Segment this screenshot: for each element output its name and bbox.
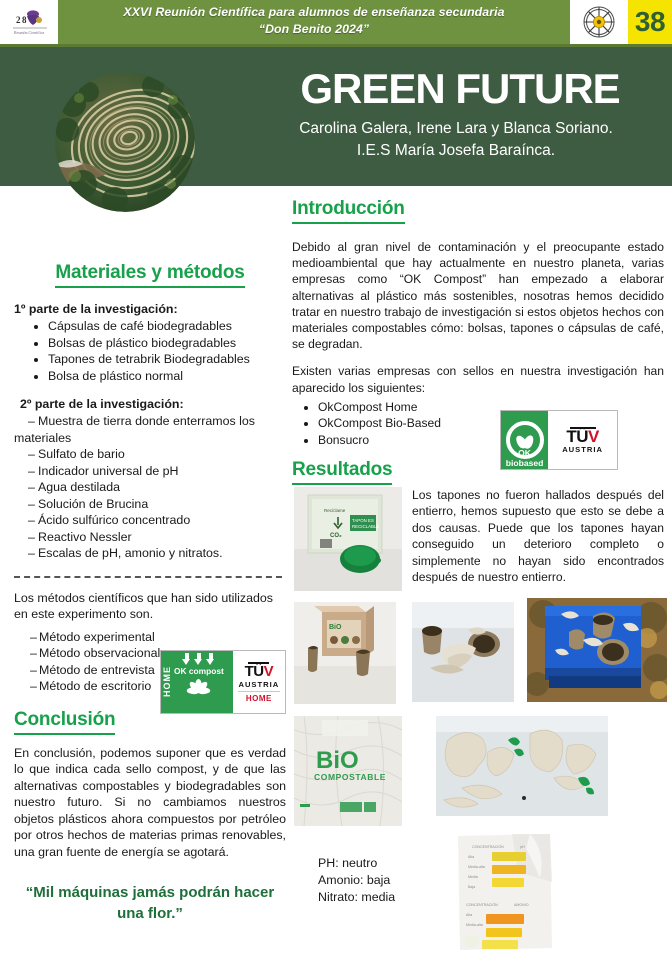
introduction-paragraph-1: Debido al gran nivel de contaminación y … <box>292 239 664 352</box>
materials-part1-list: Cápsulas de café biodegradables Bolsas d… <box>14 318 286 384</box>
conference-header-bar: 2 8 Reunión Científica XXVI Reunión Cien… <box>0 0 672 44</box>
left-column: Materiales y métodos 1º parte de la inve… <box>14 262 286 924</box>
flower-icon <box>184 677 214 693</box>
list-item: Método experimental <box>30 629 286 646</box>
photo-degraded-capsules <box>412 602 514 702</box>
university-crest-icon: 2 8 Reunión Científica <box>6 5 54 39</box>
list-item: Agua destilada <box>28 479 286 496</box>
tuv-home-label: HOME <box>238 691 280 703</box>
measurement-ph: PH: neutro <box>318 855 395 872</box>
photo-capsules-blue-crate <box>527 598 667 702</box>
list-item: Sulfato de bario <box>28 446 286 463</box>
list-item: Reactivo Nessler <box>28 529 286 546</box>
svg-text:CO₂: CO₂ <box>330 533 342 539</box>
section-dashed-divider <box>14 576 282 578</box>
conference-title-line1: XXVI Reunión Científica para alumnos de … <box>62 4 566 21</box>
poster-title: GREEN FUTURE <box>255 66 665 112</box>
ok-biobased-logo: OK biobased TÜV AUSTRIA <box>500 410 618 470</box>
poster-number-badge: 38 <box>628 0 672 44</box>
down-arrows-icon <box>182 653 215 665</box>
school-line: I.E.S María Josefa Baraínca. <box>246 140 666 162</box>
svg-text:TAPON ES: TAPON ES <box>352 518 374 523</box>
svg-text:Media-alta: Media-alta <box>466 923 483 927</box>
svg-text:Media-alta: Media-alta <box>468 865 485 869</box>
conclusion-heading: Conclusión <box>14 709 115 735</box>
methods-intro-line1: Los métodos científicos que han sido uti… <box>14 590 286 607</box>
svg-text:2: 2 <box>16 15 21 25</box>
svg-text:BiO: BiO <box>329 624 342 631</box>
conference-title-line2: “Don Benito 2024” <box>62 21 566 38</box>
ok-compost-home-logo: HOME OK compost TÜV AUSTRIA HOME <box>160 650 286 714</box>
tuv-wordmark: TÜV <box>245 665 274 679</box>
measurement-nitrate: Nitrato: media <box>318 889 395 906</box>
svg-text:Alta: Alta <box>468 855 474 859</box>
introduction-heading: Introducción <box>292 198 405 224</box>
photo-coffee-capsules-box: BiO <box>294 602 396 704</box>
list-item: Ácido sulfúrico concentrado <box>28 512 286 529</box>
photo-degraded-plastics <box>436 716 608 816</box>
materials-part1-label: 1º parte de la investigación: <box>14 302 286 316</box>
results-text: Los tapones no fueron hallados después d… <box>412 487 664 585</box>
list-item: Solución de Brucina <box>28 496 286 513</box>
authors-line: Carolina Galera, Irene Lara y Blanca Sor… <box>246 118 666 140</box>
ok-compost-label: OK compost <box>174 666 224 676</box>
tuv-wordmark: TÜV <box>566 430 599 444</box>
poster-root: 2 8 Reunión Científica XXVI Reunión Cien… <box>0 0 672 960</box>
quote-line-1: “Mil máquinas jamás podrán hacer <box>14 882 286 903</box>
photo-green-cap-box: Recíclame CO₂ TAPON ES RECICLABLE <box>294 487 402 591</box>
list-item: Tapones de tetrabrik Biodegradables <box>48 351 286 368</box>
tuv-austria-label: AUSTRIA <box>238 680 279 689</box>
measurement-ammonium: Amonio: baja <box>318 872 395 889</box>
svg-text:BiO: BiO <box>316 747 359 774</box>
svg-text:COMPOSTABLE: COMPOSTABLE <box>314 772 386 782</box>
quote-line-2: una flor.” <box>14 903 286 924</box>
svg-text:AMONIO: AMONIO <box>514 903 529 907</box>
poster-authors: Carolina Galera, Irene Lara y Blanca Sor… <box>246 118 666 162</box>
closing-quote: “Mil máquinas jamás podrán hacer una flo… <box>14 882 286 924</box>
photo-bio-compostable-bag: BiO COMPOSTABLE <box>294 716 402 826</box>
svg-text:8: 8 <box>22 15 27 25</box>
svg-text:CONCENTRACIÓN: CONCENTRACIÓN <box>466 902 498 907</box>
svg-text:pH: pH <box>520 845 525 849</box>
list-item: Muestra de tierra donde enterramos los <box>28 413 286 430</box>
sun-compass-emblem-icon <box>570 0 628 44</box>
materials-part2-list: Muestra de tierra donde enterramos los <box>14 413 286 430</box>
photo-ph-test-strips: CONCENTRACIÓN pH Alta Media-alta Media B… <box>452 832 556 954</box>
list-item: Cápsulas de café biodegradables <box>48 318 286 335</box>
tuv-austria-label: AUSTRIA <box>562 445 603 454</box>
conclusion-text: En conclusión, podemos suponer que es ve… <box>14 745 286 861</box>
ok-compost-home-vertical-label: HOME <box>161 651 173 713</box>
hero-forest-fingerprint-photo <box>55 72 195 212</box>
conference-title: XXVI Reunión Científica para alumnos de … <box>62 4 566 38</box>
methods-intro-line2: en este experimento son. <box>14 606 286 623</box>
list-item: Escalas de pH, amonio y nitratos. <box>28 545 286 562</box>
svg-text:Media: Media <box>468 875 478 879</box>
materials-part2-reagents-list: Sulfato de bario Indicador universal de … <box>14 446 286 562</box>
materials-heading: Materiales y métodos <box>55 262 244 288</box>
list-item: Bolsa de plástico normal <box>48 368 286 385</box>
materials-part2-first-continuation: materiales <box>14 430 286 447</box>
svg-text:Baja: Baja <box>468 885 475 889</box>
list-item: Indicador universal de pH <box>28 463 286 480</box>
svg-text:Reunión Científica: Reunión Científica <box>14 30 45 35</box>
ok-biobased-caption: OK biobased <box>501 447 548 469</box>
svg-text:Recíclame: Recíclame <box>324 508 346 513</box>
svg-text:CONCENTRACIÓN: CONCENTRACIÓN <box>472 844 504 849</box>
results-heading: Resultados <box>292 459 392 485</box>
svg-text:Alta: Alta <box>466 913 472 917</box>
introduction-paragraph-2: Existen varias empresas con sellos en nu… <box>292 363 664 395</box>
list-item: Bolsas de plástico biodegradables <box>48 335 286 352</box>
materials-part2-label: 2º parte de la investigación: <box>20 397 286 411</box>
svg-text:RECICLABLE: RECICLABLE <box>352 524 379 529</box>
measurements-block: PH: neutro Amonio: baja Nitrato: media <box>318 855 395 906</box>
